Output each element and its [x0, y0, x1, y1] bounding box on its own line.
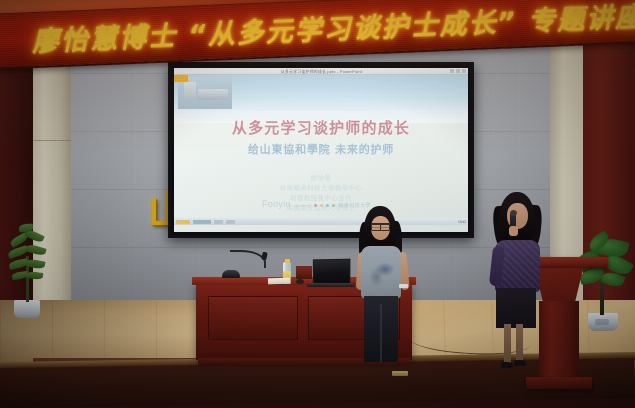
speaker-at-podium	[487, 192, 549, 372]
presentation-window-titlebar: 从多元学习谈护师的成长.pptx - PowerPoint	[174, 68, 468, 75]
papers-on-table	[268, 278, 290, 285]
skirt	[496, 288, 536, 328]
lecture-hall-photo: 山 院 从多元学习谈护师的成长.pptx - PowerPoint 从多元学习谈…	[0, 0, 635, 408]
slide-subtitle: 给山東協和學院 未来的护师	[174, 141, 468, 157]
presentation-window-title: 从多元学习谈护师的成长.pptx - PowerPoint	[280, 68, 361, 74]
taskbar-window-icon[interactable]	[193, 220, 211, 224]
glasses-icon	[371, 223, 390, 228]
shoe	[514, 360, 526, 366]
potted-plant-left	[8, 222, 48, 318]
microphone-base	[222, 270, 240, 278]
plant-pot	[14, 300, 40, 318]
cable-connector-box	[392, 371, 408, 376]
window-controls[interactable]	[450, 69, 466, 73]
laptop-screen	[313, 259, 351, 285]
hand	[509, 226, 518, 236]
pants	[364, 296, 398, 362]
slide-title: 从多元学习谈护师的成长	[174, 117, 468, 138]
slide-credit-line: 廖怡慧	[174, 173, 468, 183]
desktop-taskbar[interactable]: 15:42	[174, 218, 468, 225]
logo-dots	[314, 204, 335, 207]
taskbar-clock: 15:42	[458, 220, 466, 224]
table-panel	[208, 296, 298, 340]
leg	[516, 324, 523, 364]
taskbar-app-icon[interactable]	[214, 220, 223, 224]
lectern-base	[526, 377, 592, 389]
maximize-icon[interactable]	[456, 69, 460, 73]
projection-surface: 从多元学习谈护师的成长.pptx - PowerPoint 从多元学习谈护师的成…	[174, 68, 468, 232]
close-icon[interactable]	[462, 69, 466, 73]
slide-credit-line: 台灣輔英科技大學教學中心	[174, 183, 468, 193]
shoe	[501, 362, 513, 368]
slide-content: 从多元学习谈护师的成长 给山東協和學院 未来的护师 廖怡慧 台灣輔英科技大學教學…	[174, 75, 468, 225]
torso-top	[361, 246, 401, 298]
computer-mouse	[296, 279, 304, 284]
minimize-icon[interactable]	[450, 69, 454, 73]
projection-screen: 从多元学习谈护师的成长.pptx - PowerPoint 从多元学习谈护师的成…	[168, 62, 474, 238]
table-equipment-box	[296, 266, 312, 279]
taskbar-start-icon[interactable]	[176, 220, 190, 224]
slide-accent-tab	[174, 75, 188, 82]
laptop-base	[307, 283, 355, 287]
logo-wordmark: Fooyin	[262, 199, 291, 209]
presenter-standing	[355, 206, 409, 364]
leg	[504, 324, 511, 364]
wristwatch	[399, 284, 408, 288]
taskbar-app-icon[interactable]	[226, 220, 235, 224]
logo-subtext: University	[294, 203, 312, 208]
